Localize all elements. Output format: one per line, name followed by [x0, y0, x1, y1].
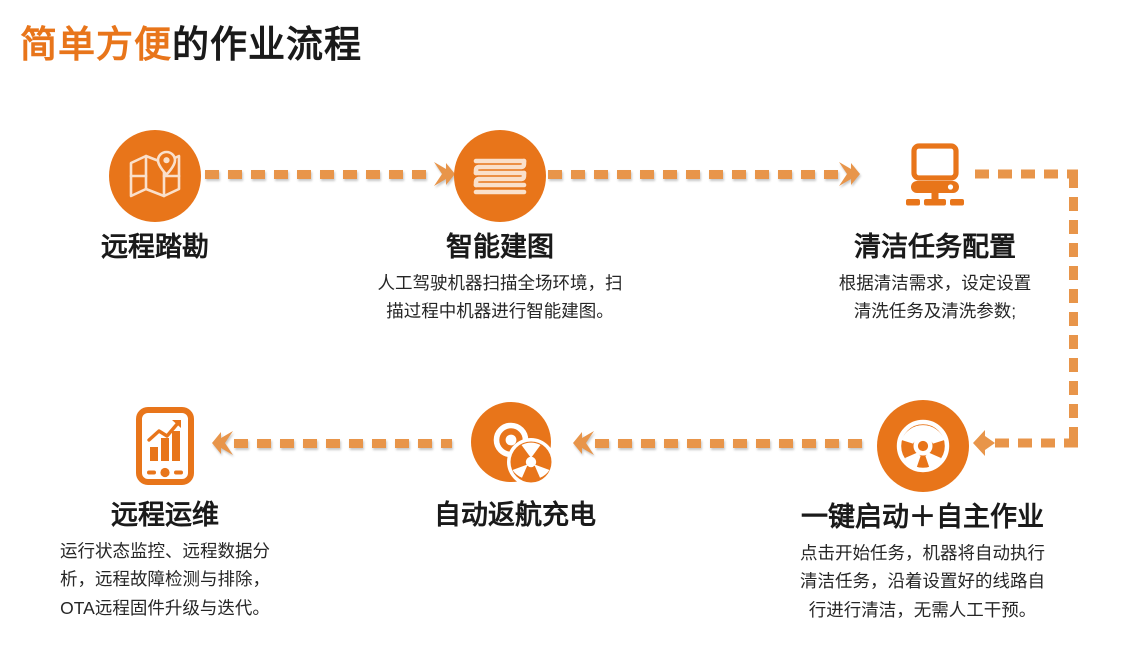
page-title: 简单方便的作业流程: [20, 26, 362, 63]
page-title-rest: 的作业流程: [172, 24, 362, 65]
step-title: 智能建图: [330, 232, 670, 263]
desc-line: 析，远程故障检测与排除，: [10, 565, 320, 593]
step-title: 一键启动＋自主作业: [745, 502, 1100, 533]
desc-line: 运行状态监控、远程数据分: [10, 537, 320, 565]
step-clean-task-config[interactable]: 清洁任务配置 根据清洁需求，设定设置 清洗任务及清洗参数;: [790, 130, 1080, 326]
mapping-lines-icon: [454, 130, 546, 222]
step-one-key-start[interactable]: 一键启动＋自主作业 点击开始任务，机器将自动执行 清洁任务，沿着设置好的线路自 …: [745, 400, 1100, 624]
step-description: 运行状态监控、远程数据分 析，远程故障检测与排除， OTA远程固件升级与迭代。: [10, 537, 320, 622]
map-pin-icon: [109, 130, 201, 222]
desc-line: 清洗任务及清洗参数;: [790, 297, 1080, 325]
mobile-chart-icon: [119, 400, 211, 492]
desc-line: 行进行清洁，无需人工干预。: [745, 596, 1100, 624]
auto-charge-icon: [469, 400, 561, 492]
steering-wheel-icon: [877, 400, 969, 492]
desc-line: 点击开始任务，机器将自动执行: [745, 539, 1100, 567]
step-remote-ops[interactable]: 远程运维 运行状态监控、远程数据分 析，远程故障检测与排除， OTA远程固件升级…: [10, 400, 320, 622]
step-title: 自动返航充电: [370, 500, 660, 531]
step-description: 人工驾驶机器扫描全场环境，扫 描过程中机器进行智能建图。: [330, 269, 670, 326]
step-title: 远程踏勘: [25, 232, 285, 263]
desc-line: 根据清洁需求，设定设置: [790, 269, 1080, 297]
step-remote-survey[interactable]: 远程踏勘: [25, 130, 285, 263]
step-smart-mapping[interactable]: 智能建图 人工驾驶机器扫描全场环境，扫 描过程中机器进行智能建图。: [330, 130, 670, 326]
step-title: 远程运维: [10, 500, 320, 531]
desc-line: 人工驾驶机器扫描全场环境，扫: [330, 269, 670, 297]
step-auto-return-charge[interactable]: 自动返航充电: [370, 400, 660, 531]
computer-icon: [889, 130, 981, 222]
desc-line: 清洁任务，沿着设置好的线路自: [745, 567, 1100, 595]
step-description: 根据清洁需求，设定设置 清洗任务及清洗参数;: [790, 269, 1080, 326]
page-title-highlight: 简单方便: [20, 24, 172, 65]
step-description: 点击开始任务，机器将自动执行 清洁任务，沿着设置好的线路自 行进行清洁，无需人工…: [745, 539, 1100, 624]
desc-line: 描过程中机器进行智能建图。: [330, 297, 670, 325]
step-title: 清洁任务配置: [790, 232, 1080, 263]
desc-line: OTA远程固件升级与迭代。: [10, 594, 320, 622]
flow-diagram-canvas: 简单方便的作业流程: [0, 0, 1121, 661]
